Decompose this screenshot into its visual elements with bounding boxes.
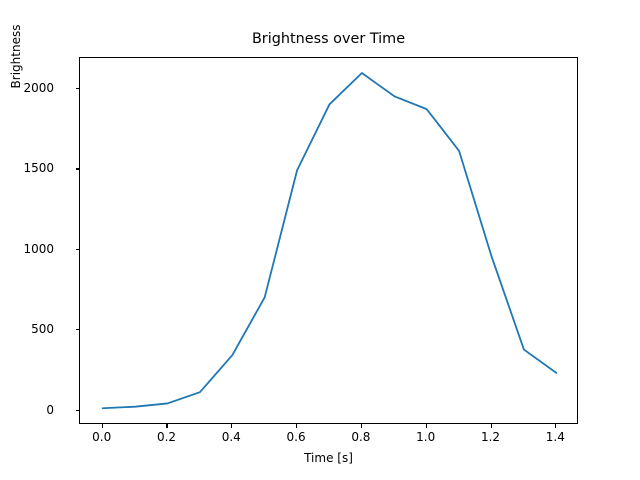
y-tick-mark	[76, 249, 80, 250]
x-axis-label: Time [s]	[79, 451, 578, 465]
x-tick-mark	[296, 424, 297, 428]
y-tick-mark	[76, 410, 80, 411]
x-tick-mark	[102, 424, 103, 428]
x-tick-label: 0.6	[287, 430, 306, 444]
y-tick-mark	[76, 329, 80, 330]
x-tick-label: 1.2	[481, 430, 500, 444]
y-tick-mark	[76, 88, 80, 89]
plot-area	[79, 57, 578, 424]
x-tick-label: 1.4	[546, 430, 565, 444]
y-tick-mark	[76, 168, 80, 169]
x-tick-label: 0.2	[157, 430, 176, 444]
chart-figure: Brightness over Time 0.00.20.40.60.81.01…	[0, 0, 640, 480]
brightness-line	[103, 73, 557, 408]
x-tick-mark	[426, 424, 427, 428]
x-tick-label: 0.0	[92, 430, 111, 444]
y-tick-label: 1000	[23, 242, 54, 256]
y-axis-label: Brightness	[9, 0, 29, 240]
x-tick-mark	[166, 424, 167, 428]
x-tick-mark	[361, 424, 362, 428]
x-tick-label: 0.8	[351, 430, 370, 444]
x-tick-label: 1.0	[416, 430, 435, 444]
chart-title: Brightness over Time	[79, 30, 578, 48]
x-tick-mark	[231, 424, 232, 428]
x-tick-mark	[491, 424, 492, 428]
y-tick-label: 500	[31, 322, 54, 336]
x-tick-mark	[555, 424, 556, 428]
y-tick-label: 0	[46, 403, 54, 417]
x-tick-label: 0.4	[222, 430, 241, 444]
data-line-series	[80, 58, 579, 425]
